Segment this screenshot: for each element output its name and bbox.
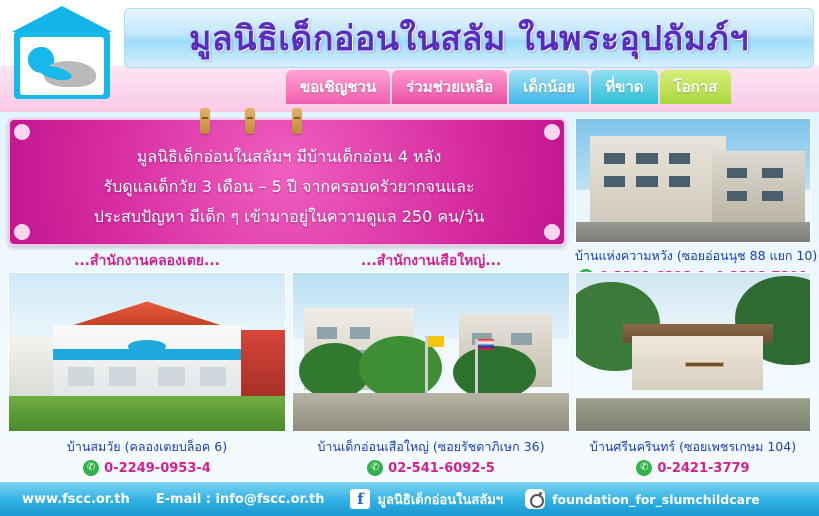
logo-roof-shape bbox=[12, 6, 112, 32]
instagram-icon bbox=[525, 489, 545, 509]
phone-icon: ✆ bbox=[636, 460, 652, 476]
caption-text: บ้านศรีนครินทร์ (ซอยเพชรเกษม 104) bbox=[575, 437, 811, 457]
nav-children[interactable]: เด็กน้อย bbox=[509, 70, 589, 104]
nav-invite[interactable]: ขอเชิญชวน bbox=[286, 70, 390, 104]
phone-icon: ✆ bbox=[83, 460, 99, 476]
caption-ban-dek-on-suea-yai: บ้านเด็กอ่อนเสือใหญ่ (ซอยรัชดาภิเษก 36) … bbox=[292, 437, 570, 476]
phone-number: 0-2421-3779 bbox=[657, 461, 749, 476]
clothespin-icon bbox=[245, 108, 255, 134]
photo-ban-dek-on-suea-yai bbox=[292, 272, 570, 432]
intro-banner: มูลนิธิเด็กอ่อนในสลัมฯ มีบ้านเด็กอ่อน 4 … bbox=[8, 118, 566, 246]
site-footer: www.fscc.or.th E-mail : info@fscc.or.th … bbox=[0, 482, 819, 516]
page-root: มูลนิธิเด็กอ่อนในสลัม ในพระอุปถัมภ์ฯ ขอเ… bbox=[0, 0, 819, 516]
clothespin-icon bbox=[292, 108, 302, 134]
footer-website-link[interactable]: www.fscc.or.th bbox=[22, 492, 130, 507]
caption-text: บ้านแห่งความหวัง (ซอยอ่อนนุช 88 แยก 10) bbox=[575, 246, 811, 266]
photo-ban-som-wai bbox=[8, 272, 286, 432]
footer-facebook-label: มูลนิธิเด็กอ่อนในสลัมฯ bbox=[377, 489, 503, 510]
facebook-icon: f bbox=[350, 489, 370, 509]
nav-needs[interactable]: ที่ขาด bbox=[591, 70, 657, 104]
site-header: มูลนิธิเด็กอ่อนในสลัม ในพระอุปถัมภ์ฯ ขอเ… bbox=[0, 0, 819, 112]
banner-corner-icon bbox=[544, 124, 560, 140]
nav-help[interactable]: ร่วมช่วยเหลือ bbox=[392, 70, 507, 104]
intro-line-1: มูลนิธิเด็กอ่อนในสลัมฯ มีบ้านเด็กอ่อน 4 … bbox=[30, 142, 548, 172]
heading-sueayai-office: ...สำนักงานเสือใหญ่... bbox=[292, 250, 570, 272]
footer-instagram-label: foundation_for_slumchildcare bbox=[552, 492, 760, 507]
photo-ban-haeng-khwam-wang bbox=[575, 118, 811, 243]
clothespin-icon bbox=[200, 108, 210, 134]
caption-ban-som-wai: บ้านสมวัย (คลองเตยบล็อค 6) ✆ 0-2249-0953… bbox=[8, 437, 286, 476]
phone-number: 02-541-6092-5 bbox=[388, 461, 495, 476]
footer-instagram[interactable]: foundation_for_slumchildcare bbox=[525, 489, 760, 509]
intro-banner-text: มูลนิธิเด็กอ่อนในสลัมฯ มีบ้านเด็กอ่อน 4 … bbox=[30, 142, 548, 232]
caption-ban-srinakharin: บ้านศรีนครินทร์ (ซอยเพชรเกษม 104) ✆ 0-24… bbox=[575, 437, 811, 476]
page-title: มูลนิธิเด็กอ่อนในสลัม ในพระอุปถัมภ์ฯ bbox=[124, 10, 814, 66]
banner-corner-icon bbox=[14, 224, 30, 240]
logo-mother-child-icon bbox=[26, 45, 98, 89]
logo-inner-panel bbox=[20, 37, 104, 95]
phone-line: ✆ 0-2421-3779 bbox=[575, 460, 811, 476]
photo-ban-srinakharin bbox=[575, 272, 811, 432]
footer-facebook[interactable]: f มูลนิธิเด็กอ่อนในสลัมฯ bbox=[350, 489, 503, 510]
footer-email[interactable]: E-mail : info@fscc.or.th bbox=[156, 492, 325, 507]
main-navigation[interactable]: ขอเชิญชวน ร่วมช่วยเหลือ เด็กน้อย ที่ขาด … bbox=[286, 70, 733, 106]
phone-line: ✆ 0-2249-0953-4 bbox=[8, 460, 286, 476]
intro-line-2: รับดูแลเด็กวัย 3 เดือน – 5 ปี จากครอบครั… bbox=[30, 172, 548, 202]
intro-line-3: ประสบปัญหา มีเด็ก ๆ เข้ามาอยู่ในความดูแล… bbox=[30, 202, 548, 232]
phone-line: ✆ 02-541-6092-5 bbox=[292, 460, 570, 476]
foundation-logo bbox=[6, 4, 118, 108]
banner-corner-icon bbox=[14, 124, 30, 140]
caption-text: บ้านเด็กอ่อนเสือใหญ่ (ซอยรัชดาภิเษก 36) bbox=[292, 437, 570, 457]
phone-icon: ✆ bbox=[367, 460, 383, 476]
caption-text: บ้านสมวัย (คลองเตยบล็อค 6) bbox=[8, 437, 286, 457]
nav-opportunity[interactable]: โอกาส bbox=[660, 70, 732, 104]
heading-klongtoey-office: ...สำนักงานคลองเตย... bbox=[8, 250, 286, 272]
phone-number: 0-2249-0953-4 bbox=[104, 461, 211, 476]
